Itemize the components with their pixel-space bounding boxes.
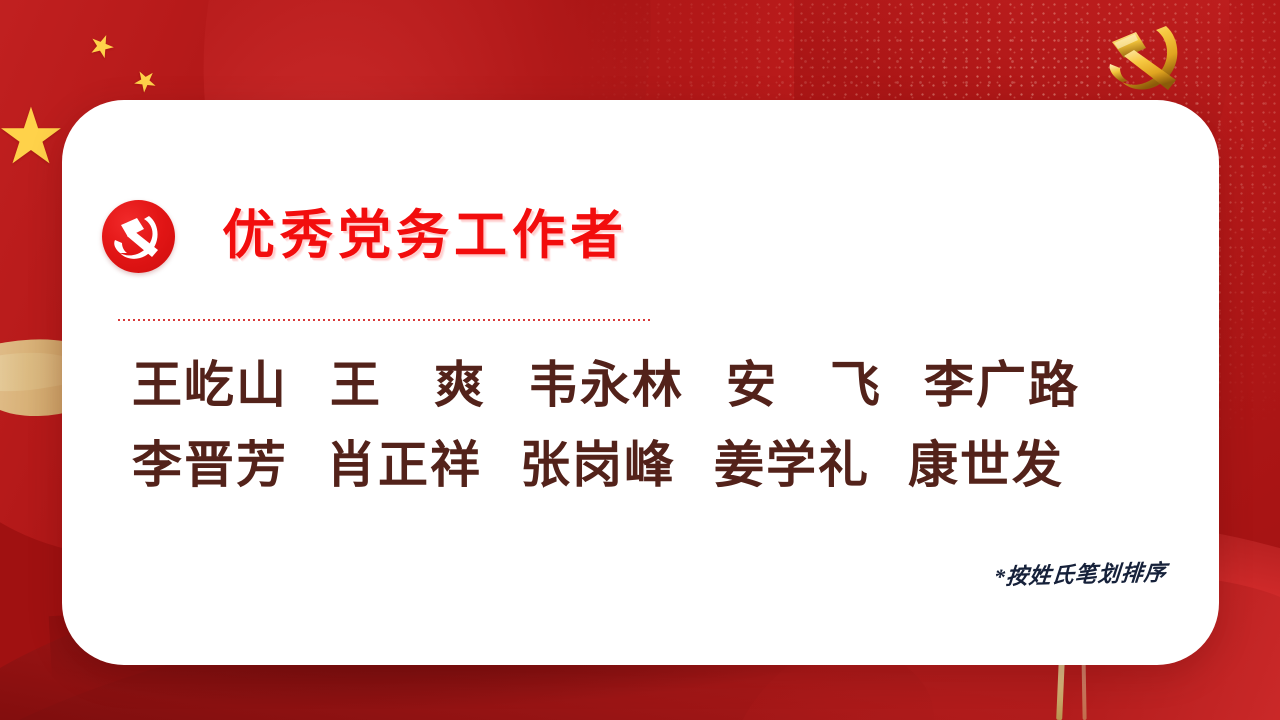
honoree-name: 安 飞 [726,352,882,418]
honoree-name: 韦永林 [528,352,684,418]
page-title: 优秀党务工作者 [222,210,628,263]
honoree-name-list: 王屹山 王 爽 韦永林 安 飞 李广路 李晋芳 肖正祥 张岗峰 姜学礼 康世发 [132,352,1152,498]
sort-order-footnote: *按姓氏笔划排序 [993,555,1168,592]
honoree-name: 康世发 [908,432,1064,498]
honoree-name: 李广路 [924,352,1080,418]
cpc-hammer-sickle-emblem-icon [102,200,175,273]
content-card: 优秀党务工作者 王屹山 王 爽 韦永林 安 飞 李广路 李晋芳 肖正祥 张岗峰 … [62,100,1219,665]
honoree-name: 姜学礼 [714,432,870,498]
gold-hammer-sickle-emblem-icon [1090,18,1198,104]
slide-root: ★ ★ ★ ★ ★ [0,0,1280,720]
slide-header: 优秀党务工作者 [102,200,628,273]
honoree-name: 张岗峰 [520,432,676,498]
honoree-name: 肖正祥 [326,432,482,498]
honoree-name: 李晋芳 [132,432,288,498]
divider [118,319,652,321]
honoree-name: 王屹山 [132,352,288,418]
name-row: 王屹山 王 爽 韦永林 安 飞 李广路 [132,352,1152,418]
honoree-name: 王 爽 [330,352,486,418]
name-row: 李晋芳 肖正祥 张岗峰 姜学礼 康世发 [132,432,1152,498]
